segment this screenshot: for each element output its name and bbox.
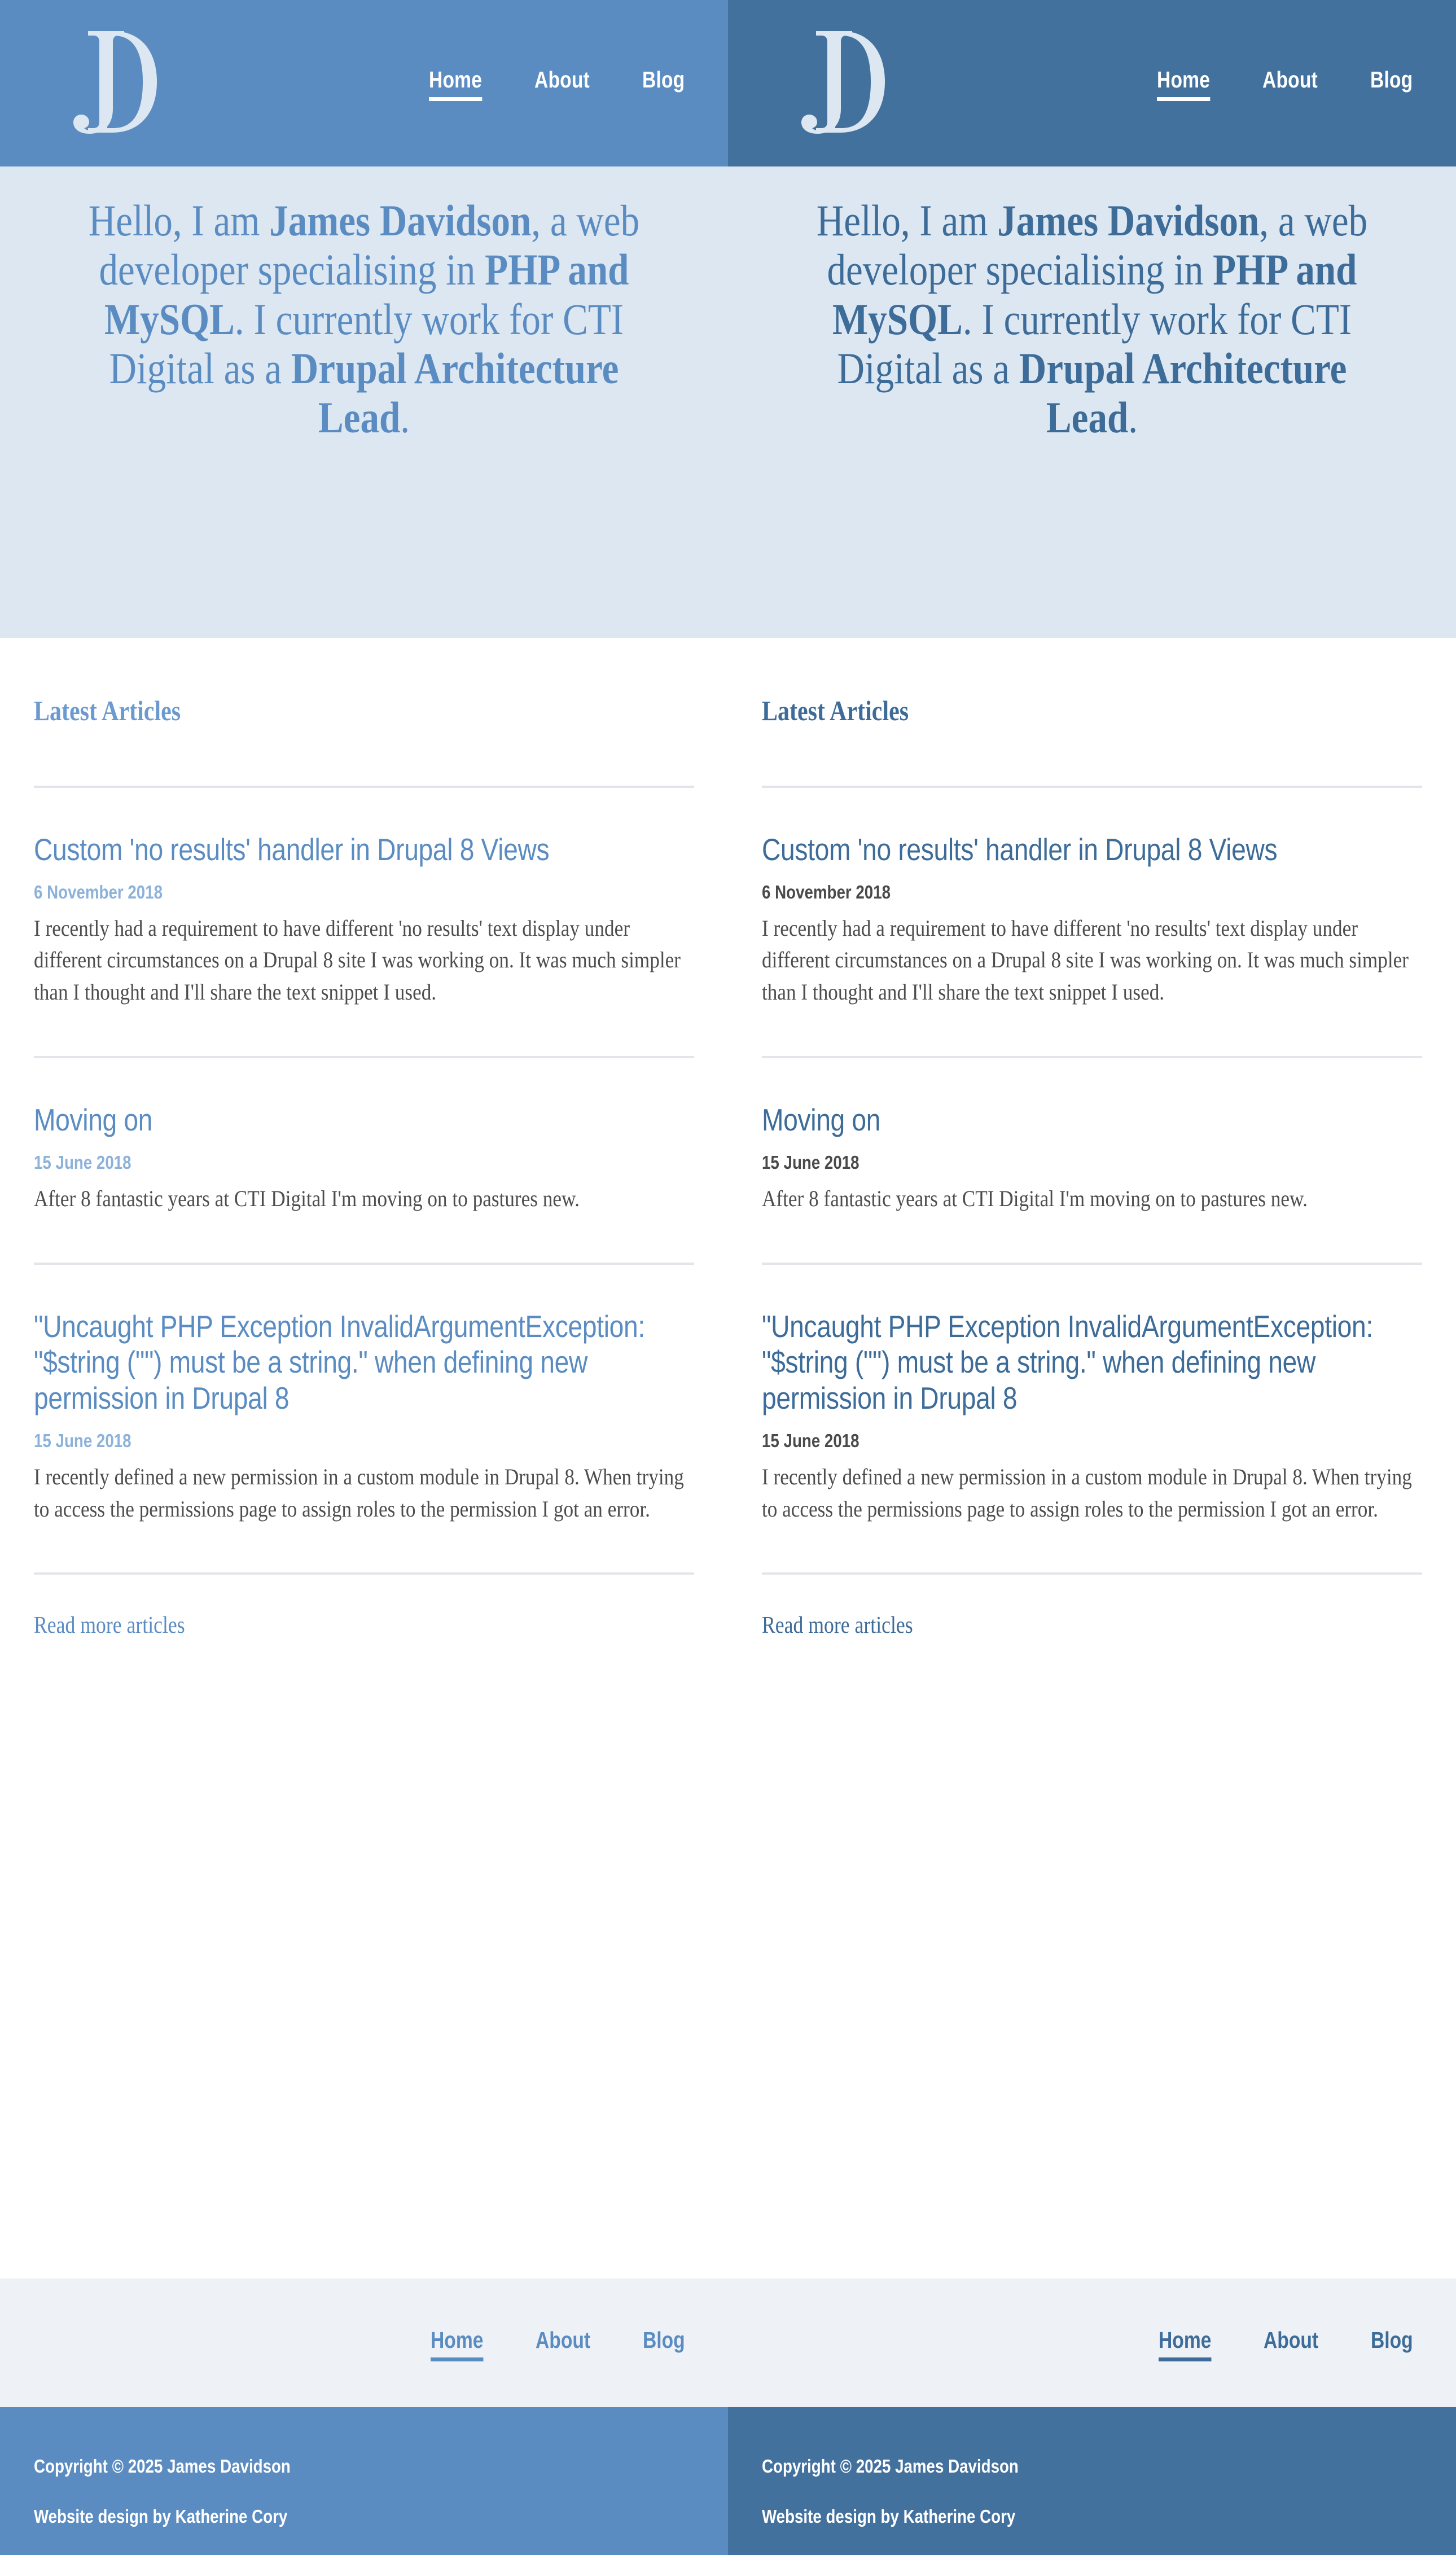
nav-link-home[interactable]: Home — [429, 67, 482, 106]
article-date: 6 November 2018 — [34, 880, 694, 905]
article-date: 15 June 2018 — [762, 1151, 1422, 1175]
article-title[interactable]: "Uncaught PHP Exception InvalidArgumentE… — [762, 1309, 1422, 1417]
footer-nav-link-home[interactable]: Home — [431, 2327, 483, 2366]
hero-section: Hello, I am James Davidson, a web develo… — [728, 166, 1456, 638]
main-content: Latest Articles Custom 'no results' hand… — [0, 638, 728, 2278]
article-summary: After 8 fantastic years at CTI Digital I… — [762, 1183, 1424, 1215]
nav-link-about[interactable]: About — [1262, 67, 1318, 106]
site-header: Home About Blog — [728, 0, 1456, 166]
site-header: Home About Blog — [0, 0, 728, 166]
read-more-articles-link[interactable]: Read more articles — [34, 1612, 185, 1639]
copyright-text: Copyright © 2025 James Davidson — [762, 2455, 1317, 2479]
article-date: 15 June 2018 — [34, 1429, 694, 1453]
read-more-container: Read more articles — [762, 1575, 1422, 1691]
footer-nav-link-blog[interactable]: Blog — [1371, 2327, 1413, 2366]
article-title[interactable]: "Uncaught PHP Exception InvalidArgumentE… — [34, 1309, 694, 1417]
article-title[interactable]: Custom 'no results' handler in Drupal 8 … — [34, 832, 694, 868]
article-date: 15 June 2018 — [34, 1151, 694, 1175]
read-more-articles-link[interactable]: Read more articles — [762, 1612, 913, 1639]
designer-link[interactable]: Katherine Cory — [176, 2506, 288, 2527]
jd-monogram-logo[interactable] — [761, 11, 891, 152]
footer-nav-link-about[interactable]: About — [1264, 2327, 1318, 2366]
article-summary: I recently defined a new permission in a… — [762, 1461, 1424, 1526]
design-credit: Website design by Katherine Cory — [34, 2505, 589, 2529]
article-date: 15 June 2018 — [762, 1429, 1422, 1453]
article-title[interactable]: Custom 'no results' handler in Drupal 8 … — [762, 832, 1422, 868]
variant-panel-high-contrast: Home About Blog Hello, I am James Davids… — [728, 0, 1456, 2555]
design-credit: Website design by Katherine Cory — [762, 2505, 1317, 2529]
article-item: "Uncaught PHP Exception InvalidArgumentE… — [762, 1265, 1422, 1573]
primary-navigation: Home About Blog — [429, 67, 694, 106]
article-summary: After 8 fantastic years at CTI Digital I… — [34, 1183, 696, 1215]
read-more-container: Read more articles — [34, 1575, 694, 1691]
article-date: 6 November 2018 — [762, 880, 1422, 905]
article-summary: I recently had a requirement to have dif… — [34, 913, 696, 1009]
article-item: Moving on 15 June 2018 After 8 fantastic… — [762, 1058, 1422, 1262]
article-title[interactable]: Moving on — [34, 1102, 694, 1138]
copyright-bar: Copyright © 2025 James Davidson Website … — [728, 2407, 1456, 2555]
variant-panel-default: Home About Blog Hello, I am James Davids… — [0, 0, 728, 2555]
variant-comparison: Home About Blog Hello, I am James Davids… — [0, 0, 1456, 2555]
article-summary: I recently had a requirement to have dif… — [762, 913, 1424, 1009]
footer-nav-bar: Home About Blog — [728, 2278, 1456, 2407]
nav-link-blog[interactable]: Blog — [1370, 67, 1413, 106]
latest-articles-heading: Latest Articles — [34, 696, 589, 725]
article-item: Custom 'no results' handler in Drupal 8 … — [762, 788, 1422, 1056]
article-item: "Uncaught PHP Exception InvalidArgumentE… — [34, 1265, 694, 1573]
main-content: Latest Articles Custom 'no results' hand… — [728, 638, 1456, 2278]
footer-navigation: Home About Blog — [1159, 2327, 1422, 2366]
designer-link[interactable]: Katherine Cory — [904, 2506, 1016, 2527]
footer-nav-bar: Home About Blog — [0, 2278, 728, 2407]
nav-link-blog[interactable]: Blog — [642, 67, 685, 106]
hero-section: Hello, I am James Davidson, a web develo… — [0, 166, 728, 638]
primary-navigation: Home About Blog — [1157, 67, 1422, 106]
footer-navigation: Home About Blog — [431, 2327, 694, 2366]
copyright-bar: Copyright © 2025 James Davidson Website … — [0, 2407, 728, 2555]
nav-link-home[interactable]: Home — [1157, 67, 1210, 106]
article-item: Moving on 15 June 2018 After 8 fantastic… — [34, 1058, 694, 1262]
hero-intro-text: Hello, I am James Davidson, a web develo… — [83, 196, 645, 638]
jd-monogram-logo[interactable] — [33, 11, 163, 152]
latest-articles-heading: Latest Articles — [762, 696, 1317, 725]
copyright-text: Copyright © 2025 James Davidson — [34, 2455, 589, 2479]
footer-nav-link-blog[interactable]: Blog — [643, 2327, 685, 2366]
footer-nav-link-about[interactable]: About — [536, 2327, 590, 2366]
article-title[interactable]: Moving on — [762, 1102, 1422, 1138]
nav-link-about[interactable]: About — [534, 67, 590, 106]
article-summary: I recently defined a new permission in a… — [34, 1461, 696, 1526]
footer-nav-link-home[interactable]: Home — [1159, 2327, 1211, 2366]
hero-intro-text: Hello, I am James Davidson, a web develo… — [811, 196, 1373, 638]
article-item: Custom 'no results' handler in Drupal 8 … — [34, 788, 694, 1056]
